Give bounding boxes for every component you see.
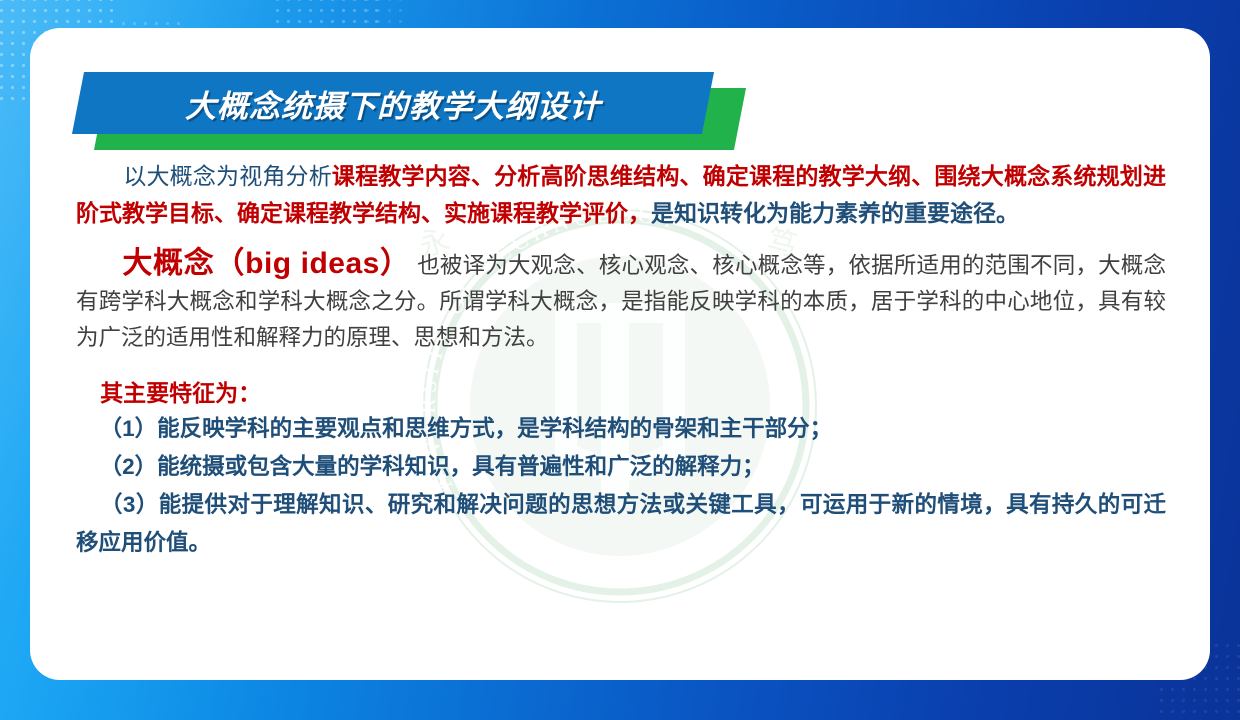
term-english: （big ideas） xyxy=(214,247,410,280)
slide-title-banner: 大概念统摄下的教学大纲设计 xyxy=(78,68,758,150)
feature-item-1: （1）能反映学科的主要观点和思维方式，是学科结构的骨架和主干部分； xyxy=(76,410,1166,448)
feature-item-2: （2）能统摄或包含大量的学科知识，具有普遍性和广泛的解释力； xyxy=(76,448,1166,486)
feature-item-text: （1）能反映学科的主要观点和思维方式，是学科结构的骨架和主干部分； xyxy=(100,416,833,441)
feature-item-text: （3）能提供对于理解知识、研究和解决问题的思想方法或关键工具，可运用于新的情境，… xyxy=(76,492,1166,555)
content-card: UNIVERSITY OF TECHNOLOGY 永 笃 大概念统摄下的教学大纲… xyxy=(30,28,1210,680)
intro-lead-text: 以大概念为视角分析 xyxy=(123,163,332,189)
feature-item-text: （2）能统摄或包含大量的学科知识，具有普遍性和广泛的解释力； xyxy=(100,454,765,479)
page-title: 大概念统摄下的教学大纲设计 xyxy=(78,72,708,134)
slide-canvas: UNIVERSITY OF TECHNOLOGY 永 笃 大概念统摄下的教学大纲… xyxy=(0,0,1240,720)
slide-body: 以大概念为视角分析课程教学内容、分析高阶思维结构、确定课程的教学大纲、围绕大概念… xyxy=(76,158,1166,562)
term-chinese: 大概念 xyxy=(122,247,214,280)
paragraph-definition: 大概念（big ideas） 也被译为大观念、核心观念、核心概念等，依据所适用的… xyxy=(76,246,1166,356)
features-heading: 其主要特征为： xyxy=(76,376,1166,410)
paragraph-intro: 以大概念为视角分析课程教学内容、分析高阶思维结构、确定课程的教学大纲、围绕大概念… xyxy=(76,158,1166,232)
features-heading-text: 其主要特征为： xyxy=(100,380,261,406)
intro-tail-text: 是知识转化为能力素养的重要途径。 xyxy=(651,200,1019,226)
feature-item-3: （3）能提供对于理解知识、研究和解决问题的思想方法或关键工具，可运用于新的情境，… xyxy=(76,486,1166,562)
